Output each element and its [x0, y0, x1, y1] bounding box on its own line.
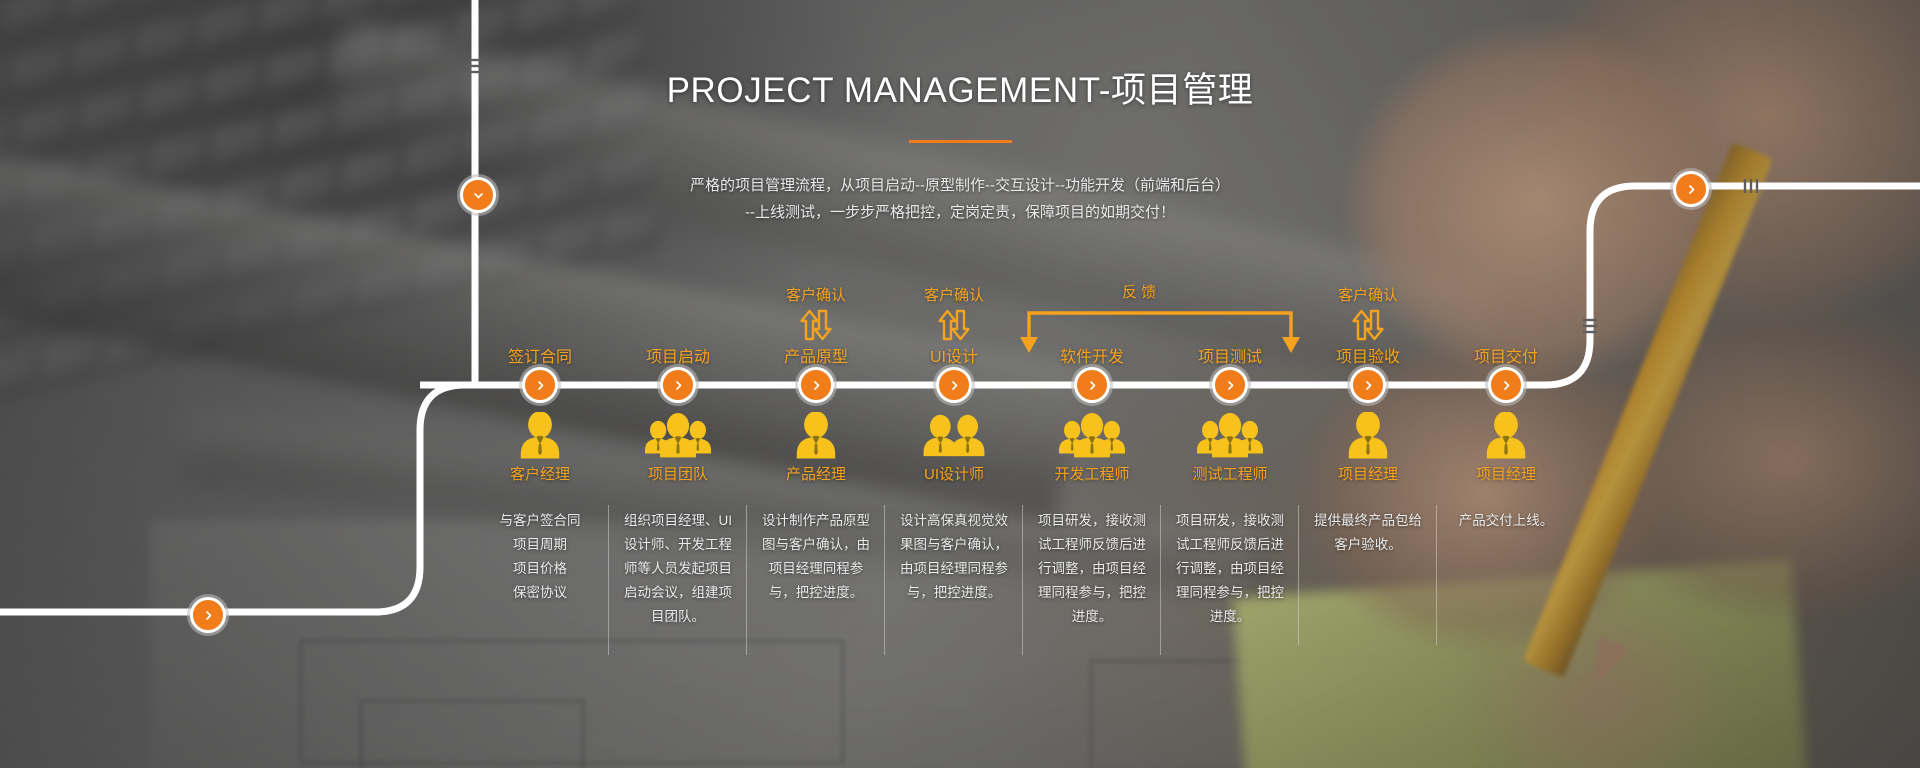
- role-name-8: 项目经理: [1437, 463, 1575, 484]
- role-group-8: 项目经理: [1437, 412, 1575, 484]
- single-person-icon: [1345, 412, 1391, 460]
- chevron-right-icon: [1086, 379, 1099, 392]
- description-line: 保密协议: [484, 581, 596, 605]
- description-line: 项目研发，接收测试工程师反馈后进行调整，由项目经理同程参与，把控进度。: [1036, 509, 1148, 629]
- role-icon-wrap-3: [747, 412, 885, 460]
- up-down-arrows-icon: [798, 309, 834, 341]
- top-vertical-node[interactable]: [460, 177, 496, 213]
- role-group-5: 开发工程师: [1023, 412, 1161, 484]
- chevron-right-icon: [1500, 379, 1513, 392]
- description-line: 提供最终产品包给客户验收。: [1312, 509, 1424, 557]
- role-group-4: UI设计师: [885, 412, 1023, 484]
- customer-confirm-label: 客户确认: [885, 287, 1023, 305]
- step-title-5[interactable]: 软件开发: [1023, 343, 1161, 367]
- column-divider-1: [608, 505, 609, 655]
- customer-confirm-group-3: 客户确认: [747, 287, 885, 341]
- page-subtitle: 严格的项目管理流程，从项目启动--原型制作--交互设计--功能开发（前端和后台）…: [0, 172, 1920, 226]
- page-title: PROJECT MANAGEMENT-项目管理: [0, 62, 1920, 113]
- description-line: 项目研发，接收测试工程师反馈后进行调整，由项目经理同程参与，把控进度。: [1174, 509, 1286, 629]
- title-underline-rule: [909, 140, 1012, 143]
- role-name-5: 开发工程师: [1023, 463, 1161, 484]
- single-person-icon: [517, 412, 563, 460]
- role-icon-wrap-8: [1437, 412, 1575, 460]
- column-divider-4: [1022, 505, 1023, 655]
- top-right-node[interactable]: [1673, 171, 1709, 207]
- step-node-2[interactable]: [660, 367, 696, 403]
- step-node-8[interactable]: [1488, 367, 1524, 403]
- group-two-people-icon: [923, 412, 985, 460]
- chevron-right-icon: [1224, 379, 1237, 392]
- role-name-7: 项目经理: [1299, 463, 1437, 484]
- step-node-3[interactable]: [798, 367, 834, 403]
- step-node-1[interactable]: [522, 367, 558, 403]
- role-group-3: 产品经理: [747, 412, 885, 484]
- role-name-2: 项目团队: [609, 463, 747, 484]
- step-title-2[interactable]: 项目启动: [609, 343, 747, 367]
- column-divider-5: [1160, 505, 1161, 655]
- role-name-6: 测试工程师: [1161, 463, 1299, 484]
- step-title-3[interactable]: 产品原型: [747, 343, 885, 367]
- column-divider-6: [1298, 505, 1299, 645]
- role-name-1: 客户经理: [471, 463, 609, 484]
- step-title-6[interactable]: 项目测试: [1161, 343, 1299, 367]
- customer-confirm-label: 客户确认: [1299, 287, 1437, 305]
- group-three-people-icon: [644, 412, 712, 460]
- step-description-4: 设计高保真视觉效果图与客户确认，由项目经理同程参与，把控进度。: [898, 509, 1010, 605]
- customer-confirm-arrows: [747, 309, 885, 341]
- step-title-7[interactable]: 项目验收: [1299, 343, 1437, 367]
- bottom-left-node[interactable]: [190, 597, 226, 633]
- group-three-people-icon: [1058, 412, 1126, 460]
- role-group-7: 项目经理: [1299, 412, 1437, 484]
- role-icon-wrap-1: [471, 412, 609, 460]
- column-divider-3: [884, 505, 885, 655]
- description-line: 设计高保真视觉效果图与客户确认，由项目经理同程参与，把控进度。: [898, 509, 1010, 605]
- customer-confirm-arrows: [885, 309, 1023, 341]
- chevron-right-icon: [534, 379, 547, 392]
- role-icon-wrap-7: [1299, 412, 1437, 460]
- chevron-down-icon: [472, 189, 485, 202]
- single-person-icon: [793, 412, 839, 460]
- step-description-8: 产品交付上线。: [1450, 509, 1562, 533]
- chevron-right-icon: [1685, 183, 1698, 196]
- step-description-7: 提供最终产品包给客户验收。: [1312, 509, 1424, 557]
- role-icon-wrap-5: [1023, 412, 1161, 460]
- chevron-right-icon: [948, 379, 961, 392]
- step-description-3: 设计制作产品原型图与客户确认，由项目经理同程参与，把控进度。: [760, 509, 872, 605]
- column-divider-7: [1436, 505, 1437, 645]
- up-down-arrows-icon: [936, 309, 972, 341]
- chevron-right-icon: [810, 379, 823, 392]
- customer-confirm-label: 客户确认: [747, 287, 885, 305]
- customer-confirm-arrows: [1299, 309, 1437, 341]
- customer-confirm-group-4: 客户确认: [885, 287, 1023, 341]
- group-three-people-icon: [1196, 412, 1264, 460]
- step-node-5[interactable]: [1074, 367, 1110, 403]
- step-node-7[interactable]: [1350, 367, 1386, 403]
- description-line: 组织项目经理、UI设计师、开发工程师等人员发起项目启动会议，组建项目团队。: [622, 509, 734, 629]
- subtitle-line-2: --上线测试，一步步严格把控，定岗定责，保障项目的如期交付！: [0, 199, 1920, 226]
- chevron-right-icon: [672, 379, 685, 392]
- step-title-8[interactable]: 项目交付: [1437, 343, 1575, 367]
- description-line: 产品交付上线。: [1450, 509, 1562, 533]
- step-title-1[interactable]: 签订合同: [471, 343, 609, 367]
- role-name-3: 产品经理: [747, 463, 885, 484]
- description-line: 项目价格: [484, 557, 596, 581]
- up-down-arrows-icon: [1350, 309, 1386, 341]
- role-icon-wrap-6: [1161, 412, 1299, 460]
- step-description-6: 项目研发，接收测试工程师反馈后进行调整，由项目经理同程参与，把控进度。: [1174, 509, 1286, 629]
- role-name-4: UI设计师: [885, 463, 1023, 484]
- customer-confirm-group-7: 客户确认: [1299, 287, 1437, 341]
- step-node-4[interactable]: [936, 367, 972, 403]
- role-group-6: 测试工程师: [1161, 412, 1299, 484]
- description-line: 项目周期: [484, 533, 596, 557]
- role-group-2: 项目团队: [609, 412, 747, 484]
- role-icon-wrap-2: [609, 412, 747, 460]
- role-icon-wrap-4: [885, 412, 1023, 460]
- single-person-icon: [1483, 412, 1529, 460]
- subtitle-line-1: 严格的项目管理流程，从项目启动--原型制作--交互设计--功能开发（前端和后台）: [0, 172, 1920, 199]
- description-line: 设计制作产品原型图与客户确认，由项目经理同程参与，把控进度。: [760, 509, 872, 605]
- column-divider-2: [746, 505, 747, 655]
- step-description-5: 项目研发，接收测试工程师反馈后进行调整，由项目经理同程参与，把控进度。: [1036, 509, 1148, 629]
- step-description-2: 组织项目经理、UI设计师、开发工程师等人员发起项目启动会议，组建项目团队。: [622, 509, 734, 629]
- role-group-1: 客户经理: [471, 412, 609, 484]
- description-line: 与客户签合同: [484, 509, 596, 533]
- step-node-6[interactable]: [1212, 367, 1248, 403]
- page-header: PROJECT MANAGEMENT-项目管理 严格的项目管理流程，从项目启动-…: [0, 62, 1920, 226]
- chevron-right-icon: [202, 609, 215, 622]
- step-title-4[interactable]: UI设计: [885, 343, 1023, 367]
- step-description-1: 与客户签合同项目周期项目价格保密协议: [484, 509, 596, 605]
- chevron-right-icon: [1362, 379, 1375, 392]
